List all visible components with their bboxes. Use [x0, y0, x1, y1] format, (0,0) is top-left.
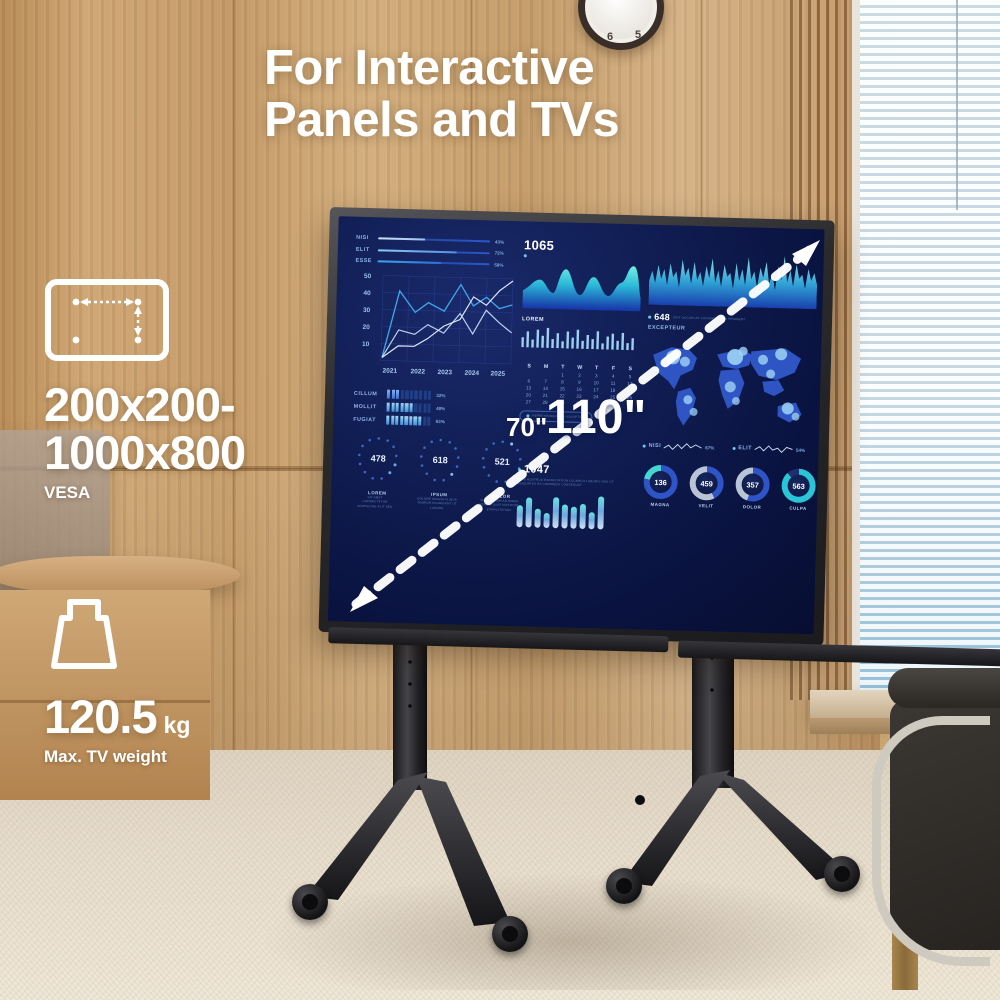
spark-dot [643, 444, 646, 447]
spiky-value: 648 [654, 312, 670, 322]
kpi-card: 136 MAGNA [643, 465, 678, 508]
vesa-value-line2: 1000x800 [44, 429, 245, 477]
vesa-value-line1: 200x200- [44, 381, 245, 429]
kpi-label: VELIT [689, 503, 723, 509]
spark-label: NISI [649, 443, 662, 449]
calendar-blank [537, 372, 554, 377]
spec-vesa: 200x200- 1000x800 VESA [44, 278, 245, 503]
line-chart: 50 40 30 20 10 2021 2022 2023 2024 2025 [348, 269, 521, 387]
kpi-donut: 357 [735, 467, 770, 502]
spark-line [664, 441, 702, 452]
kpi-card: 357 DOLOR [735, 467, 770, 510]
map-sparklines: NISI 67% ELIT 54% [643, 441, 815, 456]
map-spark: ELIT 54% [732, 443, 805, 455]
calendar-header: T [554, 364, 571, 370]
caster-wheel [606, 868, 642, 904]
svg-text:2023: 2023 [437, 369, 452, 376]
calendar-day[interactable]: 14 [537, 386, 554, 391]
bar [597, 496, 604, 529]
weight-value: 120.5 [44, 693, 157, 741]
calendar-day[interactable]: 8 [554, 379, 571, 384]
calendar-day[interactable]: 10 [588, 380, 605, 385]
area-chart-dot [524, 254, 527, 257]
svg-text:40: 40 [363, 290, 371, 297]
line-chart-svg: 50 40 30 20 10 2021 2022 2023 2024 2025 [348, 269, 521, 382]
panel-screen[interactable]: NISI 43% ELIT 72% ESSE 58% [328, 216, 825, 634]
spiky-dot [648, 315, 651, 318]
kpi-donut: 459 [689, 466, 724, 501]
segment-pct: 48% [436, 406, 445, 411]
calendar-day[interactable]: 18 [604, 387, 621, 392]
svg-text:2025: 2025 [490, 370, 505, 377]
calendar-day[interactable]: 3 [588, 373, 605, 378]
histogram-strip [521, 325, 640, 350]
panel-bezel: NISI 43% ELIT 72% ESSE 58% [319, 207, 835, 646]
status-pct: 58% [494, 262, 503, 267]
kpi-label: DOLOR [735, 504, 769, 510]
spiky-chart-svg [648, 241, 818, 310]
badge-dot [526, 414, 529, 417]
calendar-day[interactable]: 9 [571, 380, 588, 385]
calendar-day[interactable]: 12 [621, 381, 638, 386]
kpi-card: 563 CULPA [781, 468, 816, 511]
world-map: NISI 67% ELIT 54% [643, 329, 818, 456]
calendar-day[interactable]: 28 [537, 400, 554, 405]
segment-track [387, 390, 432, 400]
ring-caption: SIT AMET CONSECTETUR ADIPISCING ELIT SED [355, 495, 395, 509]
spark-pct: 54% [796, 447, 805, 452]
ring-dots: 478 [356, 435, 401, 484]
calendar-badge[interactable]: REPREHENDERIT IN VOLUPTATE [519, 411, 592, 423]
area-chart-label: LOREM [522, 316, 640, 325]
spark-line [755, 444, 793, 455]
kpi-group: 136 MAGNA 459 VELIT 357 DOL [643, 465, 816, 512]
calendar-day[interactable]: 26 [621, 395, 638, 400]
calendar-day[interactable]: 4 [605, 373, 622, 378]
bar-chart-card: 1047 QUIS NOSTRUD EXERCITATION ULLAMCO L… [516, 463, 628, 530]
kpi-label: CULPA [781, 505, 815, 511]
segment-track [386, 403, 431, 413]
ring-dots: 618 [418, 436, 463, 485]
svg-text:2021: 2021 [382, 367, 397, 374]
calendar-day[interactable]: 21 [537, 393, 554, 398]
kpi-label: MAGNA [643, 502, 677, 508]
page-title: For Interactive Panels and TVs [264, 42, 784, 147]
calendar-header: W [571, 365, 588, 371]
svg-text:2022: 2022 [410, 368, 425, 375]
weight-icon-svg [44, 588, 124, 674]
map-spark: NISI 67% [643, 441, 715, 453]
kpi-value: 563 [781, 468, 816, 503]
calendar-grid: SMTWTFS123456789101112131415161718192021… [520, 363, 639, 407]
calendar-day[interactable]: 24 [587, 394, 604, 399]
ring-value: 521 [495, 457, 510, 467]
bar [534, 508, 541, 527]
weight-sub-label: Max. TV weight [44, 747, 190, 767]
calendar-header: S [622, 366, 639, 372]
kpi-donut: 563 [781, 468, 816, 503]
calendar-day[interactable]: 16 [571, 387, 588, 392]
bar [570, 506, 577, 528]
spec-weight: 120.5 kg Max. TV weight [44, 588, 190, 767]
calendar-day[interactable]: 2 [571, 373, 588, 378]
ring-value: 618 [433, 455, 448, 465]
calendar-day[interactable]: 13 [520, 385, 537, 390]
calendar-day[interactable]: 11 [605, 380, 622, 385]
svg-text:10: 10 [362, 341, 370, 348]
status-label: ESSE [355, 258, 372, 264]
calendar-day[interactable]: 29 [553, 400, 570, 405]
ring-value: 478 [371, 453, 386, 463]
world-map-svg [643, 329, 818, 438]
segment-pct: 63% [436, 419, 445, 424]
calendar-day[interactable]: 7 [537, 379, 554, 384]
svg-text:30: 30 [363, 307, 371, 314]
status-label: NISI [356, 235, 373, 241]
bar [543, 513, 550, 528]
ring-caption: DOLORE MAGNA ALIQUA TEMPOR INCIDIDUNT UT… [417, 496, 457, 510]
bar-card-value: 1047 [524, 463, 550, 476]
kpi-value: 136 [643, 465, 678, 500]
spiky-caption: SINT OCCAECAT CUPIDATAT NON PROIDENT [673, 315, 755, 322]
kpi-donut: 136 [643, 465, 678, 500]
calendar-day[interactable]: 5 [622, 374, 639, 379]
calendar-header: S [521, 363, 538, 369]
calendar-header: M [538, 364, 555, 370]
status-label: ELIT [356, 246, 373, 252]
calendar-day[interactable]: 20 [520, 392, 537, 397]
badge-text: REPREHENDERIT IN VOLUPTATE [532, 414, 585, 420]
weight-unit: kg [164, 712, 191, 739]
calendar-day[interactable]: 15 [554, 386, 571, 391]
calendar-day[interactable]: 22 [554, 393, 571, 398]
svg-text:20: 20 [362, 324, 370, 331]
dotted-ring-group: 478 LOREM SIT AMET CONSECTETUR ADIPISCIN… [355, 435, 525, 513]
caster-wheel [292, 884, 328, 920]
area-chart-card: 1065 LOREM [521, 237, 642, 355]
calendar-day[interactable]: 1 [554, 372, 571, 377]
bar-card-caption: QUIS NOSTRUD EXERCITATION ULLAMCO LABORI… [518, 477, 628, 489]
status-pct: 43% [495, 239, 504, 244]
area-chart-value: 1065 [524, 237, 642, 255]
segment-label: MOLLIT [354, 403, 382, 410]
scene: 6 5 [0, 0, 1000, 1000]
headline-line-2: Panels and TVs [264, 94, 784, 146]
status-pct: 72% [495, 250, 504, 255]
caster-wheel [492, 916, 528, 952]
vesa-icon-svg [44, 278, 170, 362]
status-bars: NISI 43% ELIT 72% ESSE 58% [355, 235, 504, 268]
segment-pct: 32% [436, 393, 445, 398]
bar [588, 512, 595, 529]
interactive-panel[interactable]: NISI 43% ELIT 72% ESSE 58% [319, 207, 835, 646]
spark-dot [732, 446, 735, 449]
segment-label: FUGIAT [353, 416, 381, 423]
vesa-sub-label: VESA [44, 483, 245, 503]
dotted-ring: 618 IPSUM DOLORE MAGNA ALIQUA TEMPOR INC… [417, 436, 463, 510]
calendar-day[interactable]: 25 [604, 394, 621, 399]
headline-line-1: For Interactive [264, 42, 784, 94]
bar [552, 497, 559, 528]
svg-text:50: 50 [364, 273, 372, 280]
ring-caption: SED UT ENIM AD MINIM VENIAM QUIS NOSTRUD… [479, 498, 519, 512]
segment-label: CILLUM [354, 390, 382, 397]
spark-label: ELIT [738, 445, 752, 451]
vesa-pattern-icon [44, 278, 245, 367]
dotted-ring: 478 LOREM SIT AMET CONSECTETUR ADIPISCIN… [355, 435, 401, 509]
calendar-day[interactable]: 17 [588, 387, 605, 392]
calendar-day[interactable]: 6 [520, 378, 537, 383]
bar-chart-strip [516, 491, 627, 530]
spark-pct: 67% [705, 445, 714, 450]
caster-wheel [824, 856, 860, 892]
kpi-value: 459 [689, 466, 724, 501]
calendar-header: F [605, 365, 622, 371]
calendar-day[interactable]: 27 [520, 399, 537, 404]
area-chart-svg [522, 260, 641, 311]
calendar-blank [520, 371, 537, 376]
segment-track [386, 416, 431, 426]
kpi-value: 357 [735, 467, 770, 502]
weight-icon [44, 588, 190, 679]
calendar-header: T [588, 365, 605, 371]
calendar-widget[interactable]: SMTWTFS123456789101112131415161718192021… [519, 363, 639, 425]
bar [525, 497, 532, 527]
kpi-card: 459 VELIT [689, 466, 724, 509]
calendar-day[interactable]: 30 [570, 401, 587, 406]
bar [516, 505, 523, 527]
bar-card-dot [518, 468, 521, 471]
svg-text:2024: 2024 [464, 370, 479, 377]
bar [579, 504, 586, 529]
calendar-day[interactable]: 23 [570, 394, 587, 399]
calendar-day[interactable]: 19 [621, 388, 638, 393]
bar [561, 504, 568, 528]
segment-bars: CILLUM 32% MOLLIT 48% FUGI [353, 389, 446, 426]
spiky-chart-card: 648 SINT OCCAECAT CUPIDATAT NON PROIDENT… [648, 241, 818, 336]
